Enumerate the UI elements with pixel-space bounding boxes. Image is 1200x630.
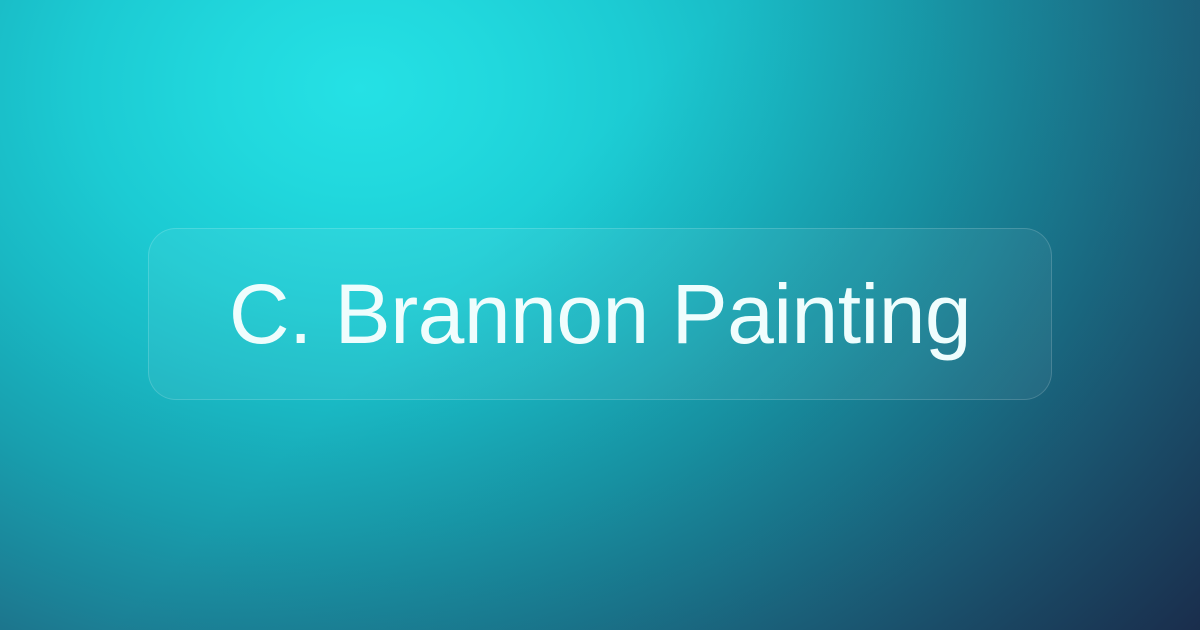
title-card: C. Brannon Painting [148,228,1052,400]
page-title: C. Brannon Painting [229,272,971,356]
og-image-canvas: C. Brannon Painting [0,0,1200,630]
